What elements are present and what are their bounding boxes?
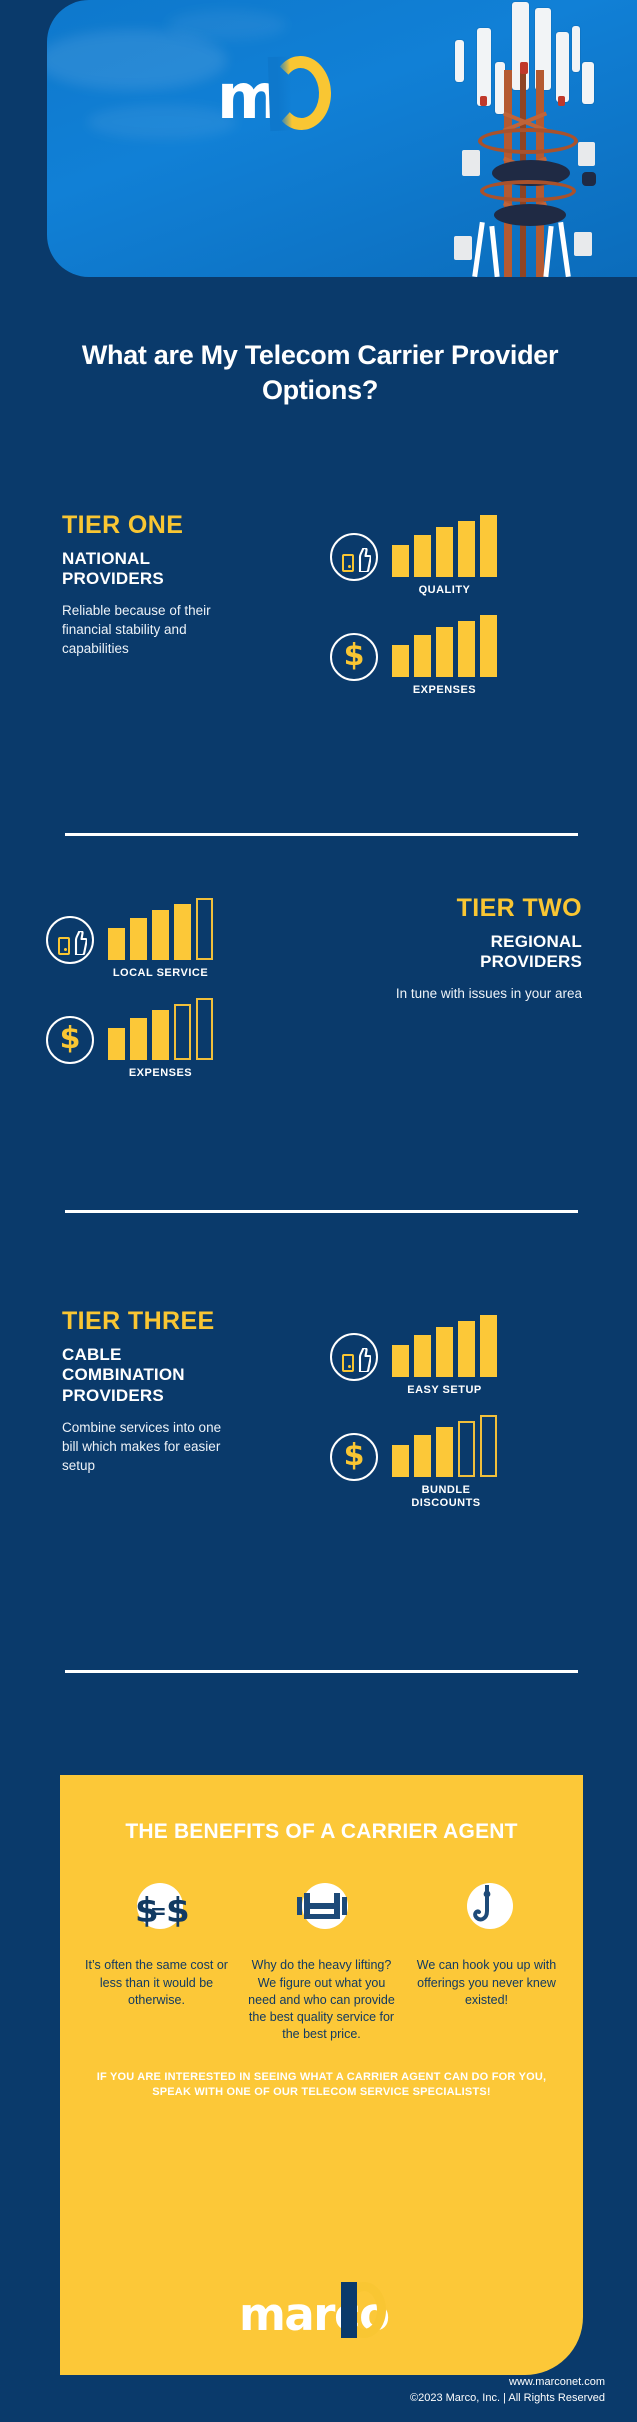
benefits-cta-text: IF YOU ARE INTERESTED IN SEEING WHAT A C… <box>90 2070 553 2102</box>
bar-1 <box>392 645 409 677</box>
bar-2 <box>414 535 431 577</box>
expenses-caption: EXPENSES <box>392 684 497 697</box>
tower-warning-light <box>520 62 528 74</box>
metric-expenses: $ EXPENSES <box>330 615 497 697</box>
bar-2 <box>414 635 431 677</box>
thumbs-up-icon <box>330 533 378 581</box>
benefit-text-1: It’s often the same cost or less than it… <box>80 1957 233 2009</box>
metric-local-service: LOCAL SERVICE <box>46 898 213 980</box>
barbell-icon <box>291 1881 353 1943</box>
tier-two-metrics: LOCAL SERVICE $ EXPENSES <box>46 898 213 1098</box>
tower-warning-light <box>480 96 487 106</box>
marco-logo-arc <box>342 2282 386 2338</box>
page-title: What are My Telecom Carrier Provider Opt… <box>60 338 580 407</box>
bar-group <box>392 1315 497 1377</box>
bar-3 <box>152 910 169 960</box>
bar-5 <box>480 615 497 677</box>
tower-antenna <box>455 40 464 82</box>
local-service-caption: LOCAL SERVICE <box>108 967 213 980</box>
bar-3 <box>152 1010 169 1060</box>
marco-logo: m <box>217 58 327 130</box>
bar-4 <box>458 1421 475 1477</box>
benefit-item-2: Why do the heavy lifting? We figure out … <box>239 1881 404 2043</box>
bar-group <box>108 898 213 960</box>
tower-antenna <box>477 28 491 106</box>
section-divider-2 <box>65 1210 578 1213</box>
bar-5 <box>480 1415 497 1477</box>
metric-quality: QUALITY <box>330 515 497 597</box>
metric-expenses: $ EXPENSES <box>46 998 213 1080</box>
thumbs-up-icon <box>46 916 94 964</box>
tower-warning-light <box>558 96 565 106</box>
bar-3 <box>436 1427 453 1477</box>
metric-bundle-discounts: $ BUNDLE DISCOUNTS <box>330 1415 500 1510</box>
bar-4 <box>458 1321 475 1377</box>
svg-text:$: $ <box>166 1891 188 1931</box>
infographic-page: m <box>0 0 637 2422</box>
tier-one-metrics: QUALITY $ EXPENSES <box>330 515 497 715</box>
benefits-title: THE BENEFITS OF A CARRIER AGENT <box>60 1818 583 1845</box>
bar-group <box>392 1415 500 1477</box>
bar-4 <box>174 1004 191 1060</box>
tower-dish <box>582 172 596 186</box>
dollar-glyph: $ <box>332 635 376 679</box>
thumb-hand-shape <box>355 1348 371 1372</box>
bar-2 <box>130 1018 147 1060</box>
tower-antenna <box>582 62 594 104</box>
cell-tower-image <box>432 0 637 277</box>
cloud-decoration <box>87 105 237 139</box>
tower-platform-ring <box>480 180 576 202</box>
tier-one-subtitle: NATIONAL PROVIDERS <box>62 549 227 590</box>
easy-setup-caption: EASY SETUP <box>392 1384 497 1397</box>
dollar-sign-icon: $ <box>330 1433 378 1481</box>
fishhook-icon <box>456 1881 518 1943</box>
tier-two-subtitle: REGIONAL PROVIDERS <box>390 932 582 973</box>
tier-one-block: TIER ONE NATIONAL PROVIDERS Reliable bec… <box>62 512 227 658</box>
tower-antenna <box>556 32 569 102</box>
quality-caption: QUALITY <box>392 584 497 597</box>
bar-1 <box>108 928 125 960</box>
bar-4 <box>458 621 475 677</box>
tower-equipment-box <box>578 142 595 166</box>
thumbs-up-icon <box>330 1333 378 1381</box>
header-banner: m <box>47 0 637 277</box>
dollar-sign-icon: $ <box>46 1016 94 1064</box>
tower-leg <box>489 226 499 277</box>
tower-equipment-box <box>574 232 592 256</box>
bar-group <box>392 515 497 577</box>
bar-1 <box>392 1445 409 1477</box>
tower-equipment-box <box>462 150 480 176</box>
benefit-item-3: We can hook you up with offerings you ne… <box>404 1881 569 2043</box>
local-service-bar-chart: LOCAL SERVICE <box>108 898 213 980</box>
bar-3 <box>436 627 453 677</box>
section-divider-1 <box>65 833 578 836</box>
tower-equipment-box <box>454 236 472 260</box>
benefits-columns: $ = $ It’s often the same cost or less t… <box>60 1881 583 2043</box>
bar-group <box>108 998 213 1060</box>
tier-two-body: In tune with issues in your area <box>390 984 582 1003</box>
thumb-cuff-shape <box>342 1354 354 1372</box>
dollar-equals-dollar-icon: $ = $ <box>126 1881 188 1943</box>
section-divider-3 <box>65 1670 578 1673</box>
footer-meta: www.marconet.com ©2023 Marco, Inc. | All… <box>410 2375 605 2407</box>
bundle-discounts-caption: BUNDLE DISCOUNTS <box>392 1484 500 1510</box>
tower-platform <box>494 204 566 226</box>
marco-logo-arc <box>270 55 333 131</box>
bundle-discounts-bar-chart: BUNDLE DISCOUNTS <box>392 1415 500 1510</box>
tower-leg <box>543 226 553 277</box>
tier-three-block: TIER THREE CABLE COMBINATION PROVIDERS C… <box>62 1308 237 1475</box>
quality-bar-chart: QUALITY <box>392 515 497 597</box>
cloud-decoration <box>167 10 287 40</box>
bar-5 <box>480 515 497 577</box>
tower-leg <box>472 222 485 277</box>
bar-4 <box>174 904 191 960</box>
expenses-bar-chart: EXPENSES <box>108 998 213 1080</box>
svg-text:=: = <box>150 1899 167 1923</box>
bar-5 <box>196 898 213 960</box>
bar-5 <box>196 998 213 1060</box>
bar-1 <box>108 1028 125 1060</box>
tower-platform-ring <box>478 128 578 154</box>
tier-three-label: TIER THREE <box>62 1308 237 1336</box>
bar-3 <box>436 1327 453 1377</box>
bar-2 <box>414 1435 431 1477</box>
benefit-text-2: Why do the heavy lifting? We figure out … <box>245 1957 398 2043</box>
bar-4 <box>458 521 475 577</box>
tower-antenna <box>572 26 580 72</box>
bar-3 <box>436 527 453 577</box>
cloud-decoration <box>47 30 227 90</box>
tier-three-metrics: EASY SETUP $ BUNDLE DISCOUNTS <box>330 1315 500 1529</box>
bar-1 <box>392 1345 409 1377</box>
thumb-hand-shape <box>355 548 371 572</box>
benefit-item-1: $ = $ It’s often the same cost or less t… <box>74 1881 239 2043</box>
bar-1 <box>392 545 409 577</box>
footer-copyright: ©2023 Marco, Inc. | All Rights Reserved <box>410 2391 605 2407</box>
tier-one-label: TIER ONE <box>62 512 227 540</box>
easy-setup-bar-chart: EASY SETUP <box>392 1315 497 1397</box>
tier-one-body: Reliable because of their financial stab… <box>62 601 227 658</box>
bar-group <box>392 615 497 677</box>
expenses-bar-chart: EXPENSES <box>392 615 497 697</box>
tier-three-body: Combine services into one bill which mak… <box>62 1418 237 1475</box>
marco-footer-logo: marco <box>239 2282 399 2358</box>
dollar-glyph: $ <box>332 1435 376 1479</box>
benefit-text-3: We can hook you up with offerings you ne… <box>410 1957 563 2009</box>
footer-website[interactable]: www.marconet.com <box>410 2375 605 2391</box>
bar-2 <box>130 918 147 960</box>
dollar-glyph: $ <box>48 1018 92 1062</box>
thumb-cuff-shape <box>58 937 70 955</box>
bar-2 <box>414 1335 431 1377</box>
tower-leg <box>558 222 571 277</box>
bar-5 <box>480 1315 497 1377</box>
tier-two-block: TIER TWO REGIONAL PROVIDERS In tune with… <box>390 895 582 1003</box>
dollar-sign-icon: $ <box>330 633 378 681</box>
metric-easy-setup: EASY SETUP <box>330 1315 500 1397</box>
thumb-cuff-shape <box>342 554 354 572</box>
tier-two-label: TIER TWO <box>390 895 582 923</box>
expenses-caption: EXPENSES <box>108 1067 213 1080</box>
thumb-hand-shape <box>71 931 87 955</box>
tier-three-subtitle: CABLE COMBINATION PROVIDERS <box>62 1345 237 1407</box>
